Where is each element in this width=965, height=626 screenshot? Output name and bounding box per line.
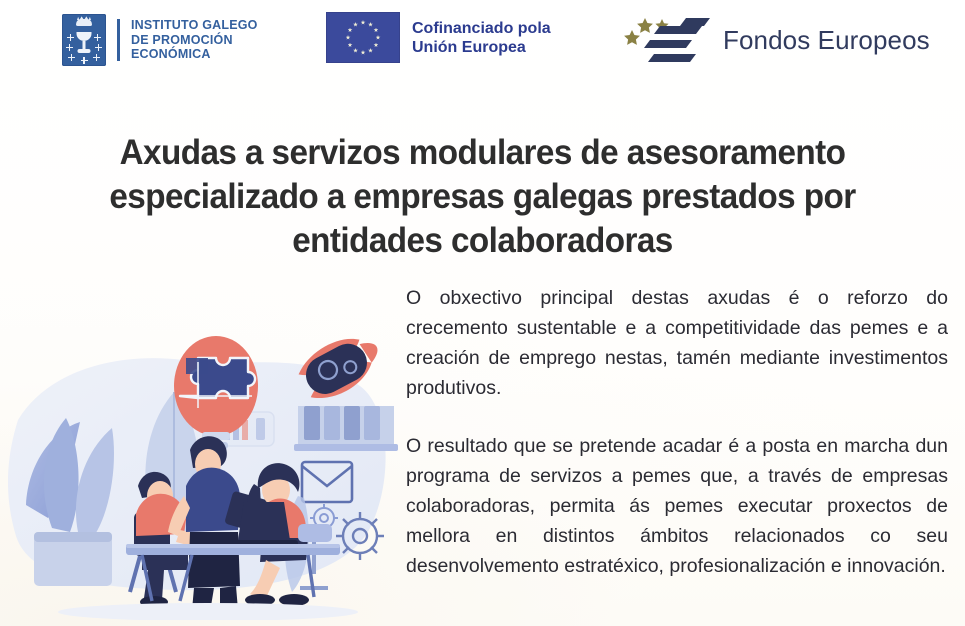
eu-star-icon: [346, 35, 351, 40]
body-text-column: O obxectivo principal destas axudas é o …: [406, 283, 948, 581]
fondos-europeos-stairs-icon: [620, 8, 710, 72]
galicia-coat-of-arms-icon: [62, 14, 106, 66]
cross-icon: [94, 34, 101, 41]
cross-icon: [95, 44, 102, 51]
eu-wordmark: Cofinanciado pola Unión Europea: [412, 19, 551, 57]
page-title: Axudas a servizos modulares de asesorame…: [57, 131, 907, 263]
igape-line-2: DE PROMOCIÓN: [131, 33, 258, 48]
bookshelf: [294, 406, 398, 451]
eu-star-icon: [368, 22, 373, 27]
eu-star-icon: [368, 48, 373, 53]
eu-star-icon: [353, 48, 358, 53]
eu-star-icon: [348, 28, 353, 33]
fondos-europeos-wordmark: Fondos Europeos: [723, 25, 930, 56]
funding-logo-bar: INSTITUTO GALEGO DE PROMOCIÓN ECONÓMICA …: [0, 0, 965, 88]
eu-star-icon: [361, 50, 366, 55]
eu-star-icon: [353, 22, 358, 27]
paragraph-objective: O obxectivo principal destas axudas é o …: [406, 283, 948, 403]
eu-line-1: Cofinanciado pola: [412, 19, 551, 38]
logo-divider: [117, 19, 120, 61]
cross-icon: [66, 44, 73, 51]
igape-wordmark: INSTITUTO GALEGO DE PROMOCIÓN ECONÓMICA: [131, 18, 258, 62]
eu-star-icon: [376, 35, 381, 40]
eu-star-icon: [373, 43, 378, 48]
stair-bars: [644, 18, 710, 62]
igape-line-3: ECONÓMICA: [131, 47, 258, 62]
logo-fondos-europeos: Fondos Europeos: [620, 8, 930, 72]
eu-star-icon: [373, 28, 378, 33]
igape-line-1: INSTITUTO GALEGO: [131, 18, 258, 33]
cross-icon: [93, 54, 100, 61]
chalice-icon: [77, 32, 92, 54]
cross-icon: [68, 54, 75, 61]
cross-icon: [81, 57, 88, 64]
team-collaboration-illustration: [8, 300, 398, 620]
paragraph-result: O resultado que se pretende acadar é a p…: [406, 431, 948, 581]
eu-line-2: Unión Europea: [412, 38, 551, 57]
logo-european-union: Cofinanciado pola Unión Europea: [326, 12, 551, 63]
eu-star-icon: [348, 43, 353, 48]
crown-icon: [76, 19, 92, 26]
logo-igape: INSTITUTO GALEGO DE PROMOCIÓN ECONÓMICA: [62, 14, 258, 66]
eu-star-icon: [361, 20, 366, 25]
eu-flag-icon: [326, 12, 400, 63]
cross-icon: [67, 34, 74, 41]
